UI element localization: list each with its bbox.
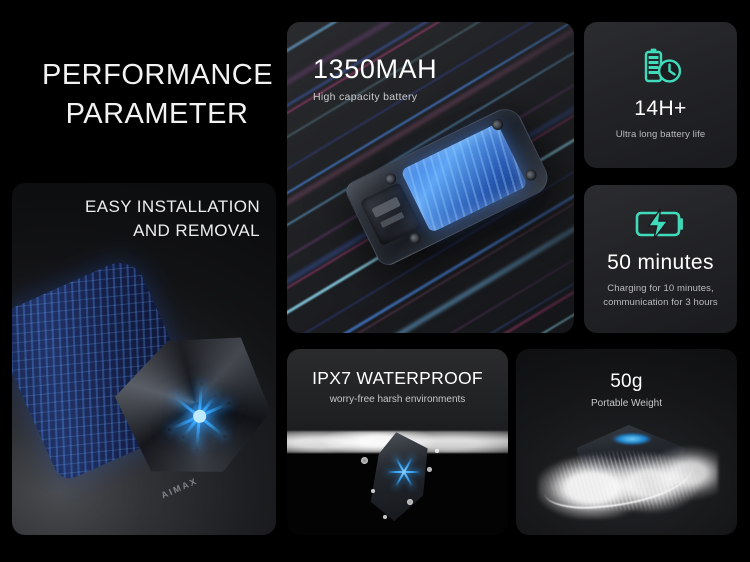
device-star-glow-icon: [385, 453, 423, 491]
device-screw: [524, 168, 539, 183]
page-title-line-2: PARAMETER: [42, 95, 272, 134]
panel-weight[interactable]: 50g Portable Weight: [516, 349, 737, 535]
bubble: [371, 489, 375, 493]
panel-battery-life[interactable]: 14H+ Ultra long battery life: [584, 22, 737, 168]
weight-value: 50g: [516, 371, 737, 393]
page-title-line-1: PERFORMANCE: [42, 56, 272, 95]
battery-life-value: 14H+: [634, 97, 686, 121]
bubble: [427, 467, 432, 472]
device-led-glow-icon: [612, 433, 652, 445]
waterproof-value: IPX7 WATERPROOF: [287, 368, 508, 389]
charging-time-value: 50 minutes: [607, 251, 714, 275]
easy-installation-line-2: AND REMOVAL: [85, 219, 260, 243]
battery-capacity-caption: High capacity battery: [313, 91, 437, 103]
panel-charging-time[interactable]: 50 minutes Charging for 10 minutes, comm…: [584, 185, 737, 333]
bubble: [407, 499, 413, 505]
waterproof-caption: worry-free harsh environments: [287, 394, 508, 405]
waterproof-heading: IPX7 WATERPROOF worry-free harsh environ…: [287, 368, 508, 405]
charging-caption-line-1: Charging for 10 minutes,: [607, 283, 713, 294]
page-title: PERFORMANCE PARAMETER: [42, 56, 272, 133]
weight-caption: Portable Weight: [516, 398, 737, 409]
battery-clock-icon: [638, 47, 684, 87]
easy-installation-line-1: EASY INSTALLATION: [85, 195, 260, 219]
bubble: [383, 515, 387, 519]
device-brand-label: AIMAX: [160, 476, 200, 501]
battery-charging-icon: [635, 207, 687, 241]
feather-illustration: [538, 445, 718, 519]
device-screw: [408, 231, 423, 246]
battery-capacity-text: 1350MAH High capacity battery: [313, 54, 437, 103]
charging-caption-line-2: communication for 3 hours: [603, 297, 717, 308]
bubble: [435, 449, 439, 453]
easy-installation-heading: EASY INSTALLATION AND REMOVAL: [85, 195, 260, 243]
panel-easy-installation[interactable]: AIMAX EASY INSTALLATION AND REMOVAL: [12, 183, 276, 535]
bubble: [361, 457, 368, 464]
battery-life-caption: Ultra long battery life: [616, 128, 705, 142]
panel-battery-capacity[interactable]: 1350MAH High capacity battery: [287, 22, 574, 333]
charging-time-caption: Charging for 10 minutes, communication f…: [603, 282, 717, 310]
battery-capacity-value: 1350MAH: [313, 54, 437, 85]
infographic-canvas: PERFORMANCE PARAMETER AIMAX EASY INSTALL…: [0, 0, 750, 562]
weight-heading: 50g Portable Weight: [516, 371, 737, 409]
panel-waterproof[interactable]: IPX7 WATERPROOF worry-free harsh environ…: [287, 349, 508, 535]
